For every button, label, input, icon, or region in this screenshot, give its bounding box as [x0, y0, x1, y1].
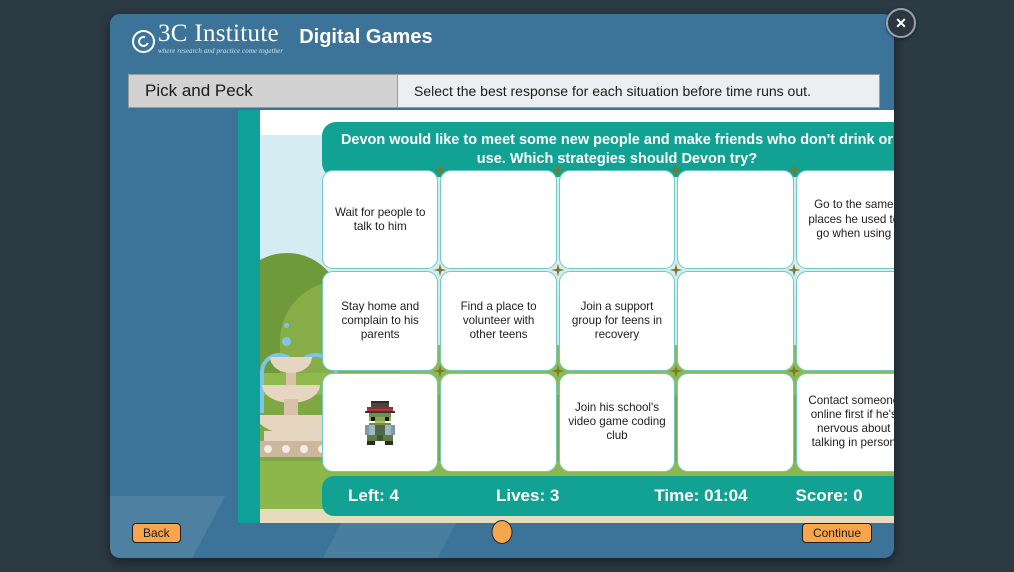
- activity-strip: Pick and Peck Select the best response f…: [128, 74, 880, 108]
- grid-cell[interactable]: Join a support group for teens in recove…: [559, 271, 675, 370]
- footer-bar: Back Continue: [110, 512, 894, 558]
- brand-logo: 3C Institute where research and practice…: [132, 21, 283, 55]
- brand-name: 3C Institute: [158, 21, 283, 46]
- grid-cell-with-player[interactable]: [322, 373, 438, 472]
- grid-cell[interactable]: [677, 373, 793, 472]
- status-time: Time: 01:04: [654, 486, 747, 506]
- status-score: Score: 0: [796, 486, 863, 506]
- grid-cell[interactable]: [559, 170, 675, 269]
- grid-cell[interactable]: [440, 373, 556, 472]
- fountain-drop-a: [282, 337, 291, 346]
- fountain-drop-b: [284, 323, 289, 328]
- grid-cell[interactable]: Join his school's video game coding club: [559, 373, 675, 472]
- progress-dot[interactable]: [492, 520, 513, 544]
- grid-cell[interactable]: Find a place to volunteer with other tee…: [440, 271, 556, 370]
- activity-title: Pick and Peck: [128, 74, 398, 108]
- circle-c-logo-icon: [132, 30, 155, 53]
- grid-cell[interactable]: [677, 271, 793, 370]
- bird-with-hat-sprite: [363, 399, 397, 445]
- grid-cell[interactable]: Go to the same places he used to go when…: [796, 170, 894, 269]
- grid-cell[interactable]: Stay home and complain to his parents: [322, 271, 438, 370]
- status-lives: Lives: 3: [496, 486, 559, 506]
- close-icon[interactable]: ✕: [886, 8, 916, 38]
- app-title: Digital Games: [299, 26, 432, 49]
- status-bar: Left: 4 Lives: 3 Time: 01:04 Score: 0: [322, 476, 894, 516]
- fountain-base-dot-2: [282, 445, 290, 453]
- frame-pillar-left: [238, 110, 260, 523]
- question-banner: Devon would like to meet some new people…: [322, 122, 894, 177]
- continue-button[interactable]: Continue: [802, 523, 872, 543]
- game-viewport: Devon would like to meet some new people…: [238, 110, 894, 523]
- grid-cell[interactable]: [677, 170, 793, 269]
- back-button[interactable]: Back: [132, 523, 181, 543]
- brand-header: 3C Institute where research and practice…: [110, 14, 894, 62]
- fountain-base-dot-1: [264, 445, 272, 453]
- brand-logo-text: 3C Institute where research and practice…: [158, 21, 283, 55]
- answer-grid: Wait for people to talk to him Go to the…: [322, 170, 894, 472]
- grid-cell[interactable]: [440, 170, 556, 269]
- grid-cell[interactable]: Contact someone online first if he's ner…: [796, 373, 894, 472]
- app-window: 3C Institute where research and practice…: [110, 14, 894, 558]
- brand-tagline: where research and practice come togethe…: [158, 48, 283, 55]
- status-left: Left: 4: [348, 486, 399, 506]
- grid-cell[interactable]: Wait for people to talk to him: [322, 170, 438, 269]
- game-scene: Devon would like to meet some new people…: [238, 110, 894, 523]
- instruction-text: Select the best response for each situat…: [398, 74, 880, 108]
- screen: 3C Institute where research and practice…: [0, 0, 1014, 572]
- fountain-base-dot-3: [300, 445, 308, 453]
- grid-cell[interactable]: [796, 271, 894, 370]
